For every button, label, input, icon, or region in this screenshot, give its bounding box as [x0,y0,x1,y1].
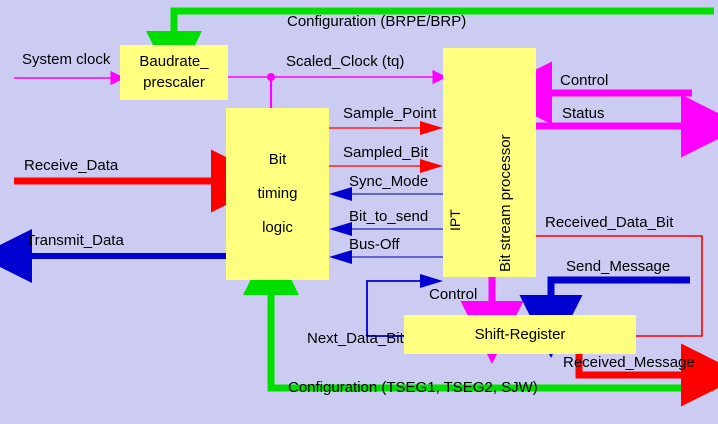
conn-sampled-bit [329,159,443,173]
block-bit-stream-processor[interactable] [443,48,536,277]
label-control-down: Control [429,286,477,303]
label-configuration-tseg: Configuration (TSEG1, TSEG2, SJW) [288,379,538,396]
block-bit-timing-logic[interactable]: Bit timing logic [226,108,329,280]
label-transmit-data: Transmit_Data [26,232,124,249]
label-sampled-bit: Sampled_Bit [343,144,428,161]
label-send-message: Send_Message [566,258,670,275]
block-shift-register[interactable]: Shift-Register [404,315,636,354]
conn-sample-point [329,121,443,135]
label-bit-to-send: Bit_to_send [349,208,428,225]
ipt-label: IPT [447,209,463,231]
baudrate-prescaler-label-2: prescaler [143,73,205,93]
baudrate-prescaler-label-1: Baudrate_ [139,52,208,72]
label-configuration-brpe-brp: Configuration (BRPE/BRP) [287,13,466,30]
label-received-data-bit: Received_Data_Bit [545,214,673,231]
bit-timing-logic-label-2: timing [257,184,297,204]
block-baudrate-prescaler[interactable]: Baudrate_ prescaler [120,45,228,100]
label-scaled-clock: Scaled_Clock (tq) [286,53,404,70]
label-received-message: Received_Message [563,354,695,371]
bit-timing-logic-label-3: logic [262,218,293,238]
label-receive-data: Receive_Data [24,157,118,174]
label-next-data-bit: Next_Data_Bit [307,330,404,347]
diagram-canvas: Baudrate_ prescaler Bit timing logic Shi… [0,0,718,424]
bit-stream-processor-label: Bit stream processor [497,134,514,272]
label-sync-mode: Sync_Mode [349,173,428,190]
label-bus-off: Bus-Off [349,236,400,253]
shift-register-label: Shift-Register [475,325,566,345]
bit-timing-logic-label-1: Bit [269,150,287,170]
label-status: Status [562,105,605,122]
label-system-clock: System clock [22,51,110,68]
label-sample-point: Sample_Point [343,105,436,122]
label-control-right: Control [560,72,608,89]
conn-send-message [551,280,690,302]
